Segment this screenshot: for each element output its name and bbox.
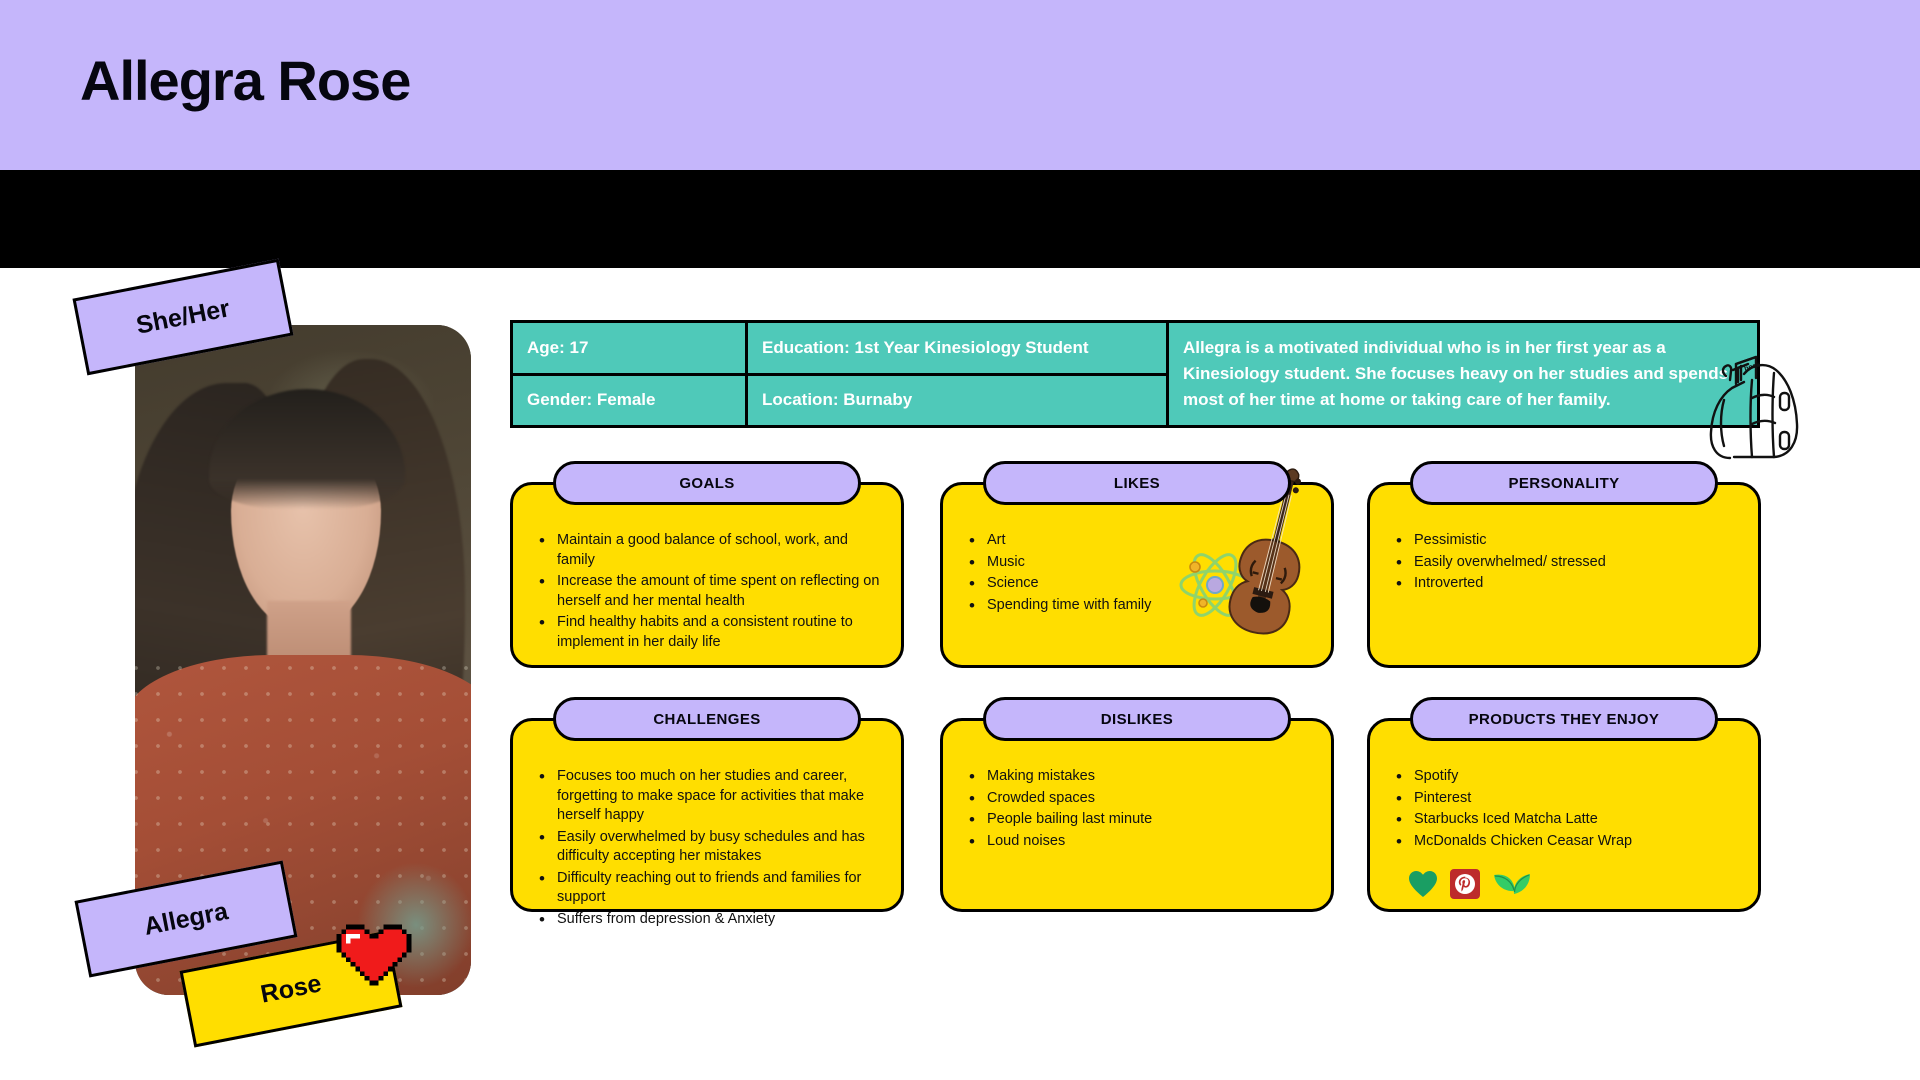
info-location: Location: Burnaby — [748, 373, 1166, 426]
card-personality-title: PERSONALITY — [1410, 461, 1718, 505]
card-personality-list: Pessimistic Easily overwhelmed/ stressed… — [1396, 531, 1742, 594]
card-likes-list: Art Music Science Spending time with fam… — [969, 531, 1315, 615]
card-products-body: Spotify Pinterest Starbucks Iced Matcha … — [1370, 721, 1758, 913]
card-dislikes-title: DISLIKES — [983, 697, 1291, 741]
brand-icons-row — [1396, 869, 1742, 899]
list-item: Difficulty reaching out to friends and f… — [539, 869, 885, 908]
card-products-title: PRODUCTS THEY ENJOY — [1410, 697, 1718, 741]
card-challenges-title: CHALLENGES — [553, 697, 861, 741]
card-challenges: CHALLENGES Focuses too much on her studi… — [510, 718, 904, 912]
list-item: Art — [969, 531, 1315, 551]
card-goals-body: Maintain a good balance of school, work,… — [513, 485, 901, 668]
sticker-last-name-label: Rose — [258, 969, 324, 1009]
info-age: Age: 17 — [513, 323, 745, 373]
list-item: Spending time with family — [969, 596, 1315, 616]
spotify-heart-icon — [1408, 870, 1438, 898]
sticker-pronouns-label: She/Her — [134, 294, 232, 340]
list-item: Loud noises — [969, 832, 1315, 852]
list-item: Music — [969, 553, 1315, 573]
backpack-icon: book — [1700, 340, 1810, 462]
page-title: Allegra Rose — [80, 48, 410, 113]
card-goals-list: Maintain a good balance of school, work,… — [539, 531, 885, 652]
list-item: Pessimistic — [1396, 531, 1742, 551]
card-challenges-body: Focuses too much on her studies and care… — [513, 721, 901, 946]
list-item: Pinterest — [1396, 789, 1742, 809]
info-col-mid: Education: 1st Year Kinesiology Student … — [745, 323, 1169, 425]
list-item: Focuses too much on her studies and care… — [539, 767, 885, 826]
card-goals-title: GOALS — [553, 461, 861, 505]
list-item: Maintain a good balance of school, work,… — [539, 531, 885, 570]
pixel-heart-icon — [336, 920, 412, 990]
card-dislikes: DISLIKES Making mistakes Crowded spaces … — [940, 718, 1334, 912]
list-item: Spotify — [1396, 767, 1742, 787]
pinterest-icon — [1450, 869, 1480, 899]
info-col-right: Allegra is a motivated individual who is… — [1169, 323, 1757, 425]
starbucks-leaf-icon — [1492, 870, 1532, 898]
list-item: Suffers from depression & Anxiety — [539, 910, 885, 930]
list-item: People bailing last minute — [969, 810, 1315, 830]
card-products-list: Spotify Pinterest Starbucks Iced Matcha … — [1396, 767, 1742, 851]
persona-page: Allegra Rose She/Her Allegra Rose — [0, 0, 1920, 1080]
card-personality: PERSONALITY Pessimistic Easily overwhelm… — [1367, 482, 1761, 668]
list-item: Easily overwhelmed by busy schedules and… — [539, 828, 885, 867]
header-black-band — [0, 170, 1920, 268]
list-item: Introverted — [1396, 574, 1742, 594]
info-table: Age: 17 Gender: Female Education: 1st Ye… — [510, 320, 1760, 428]
list-item: Easily overwhelmed/ stressed — [1396, 553, 1742, 573]
card-likes-title: LIKES — [983, 461, 1291, 505]
list-item: Find healthy habits and a consistent rou… — [539, 613, 885, 652]
info-description: Allegra is a motivated individual who is… — [1183, 335, 1739, 412]
card-likes: LIKES Art Music Science Spending time wi… — [940, 482, 1334, 668]
list-item: McDonalds Chicken Ceasar Wrap — [1396, 832, 1742, 852]
card-dislikes-list: Making mistakes Crowded spaces People ba… — [969, 767, 1315, 851]
list-item: Increase the amount of time spent on ref… — [539, 572, 885, 611]
list-item: Making mistakes — [969, 767, 1315, 787]
list-item: Science — [969, 574, 1315, 594]
card-dislikes-body: Making mistakes Crowded spaces People ba… — [943, 721, 1331, 867]
info-education: Education: 1st Year Kinesiology Student — [748, 323, 1166, 373]
sticker-first-name-label: Allegra — [142, 897, 231, 942]
info-col-left: Age: 17 Gender: Female — [513, 323, 745, 425]
card-goals: GOALS Maintain a good balance of school,… — [510, 482, 904, 668]
card-products: PRODUCTS THEY ENJOY Spotify Pinterest St… — [1367, 718, 1761, 912]
card-challenges-list: Focuses too much on her studies and care… — [539, 767, 885, 930]
card-likes-body: Art Music Science Spending time with fam… — [943, 485, 1331, 631]
list-item: Crowded spaces — [969, 789, 1315, 809]
list-item: Starbucks Iced Matcha Latte — [1396, 810, 1742, 830]
info-gender: Gender: Female — [513, 373, 745, 426]
svg-text:book: book — [1743, 361, 1761, 373]
